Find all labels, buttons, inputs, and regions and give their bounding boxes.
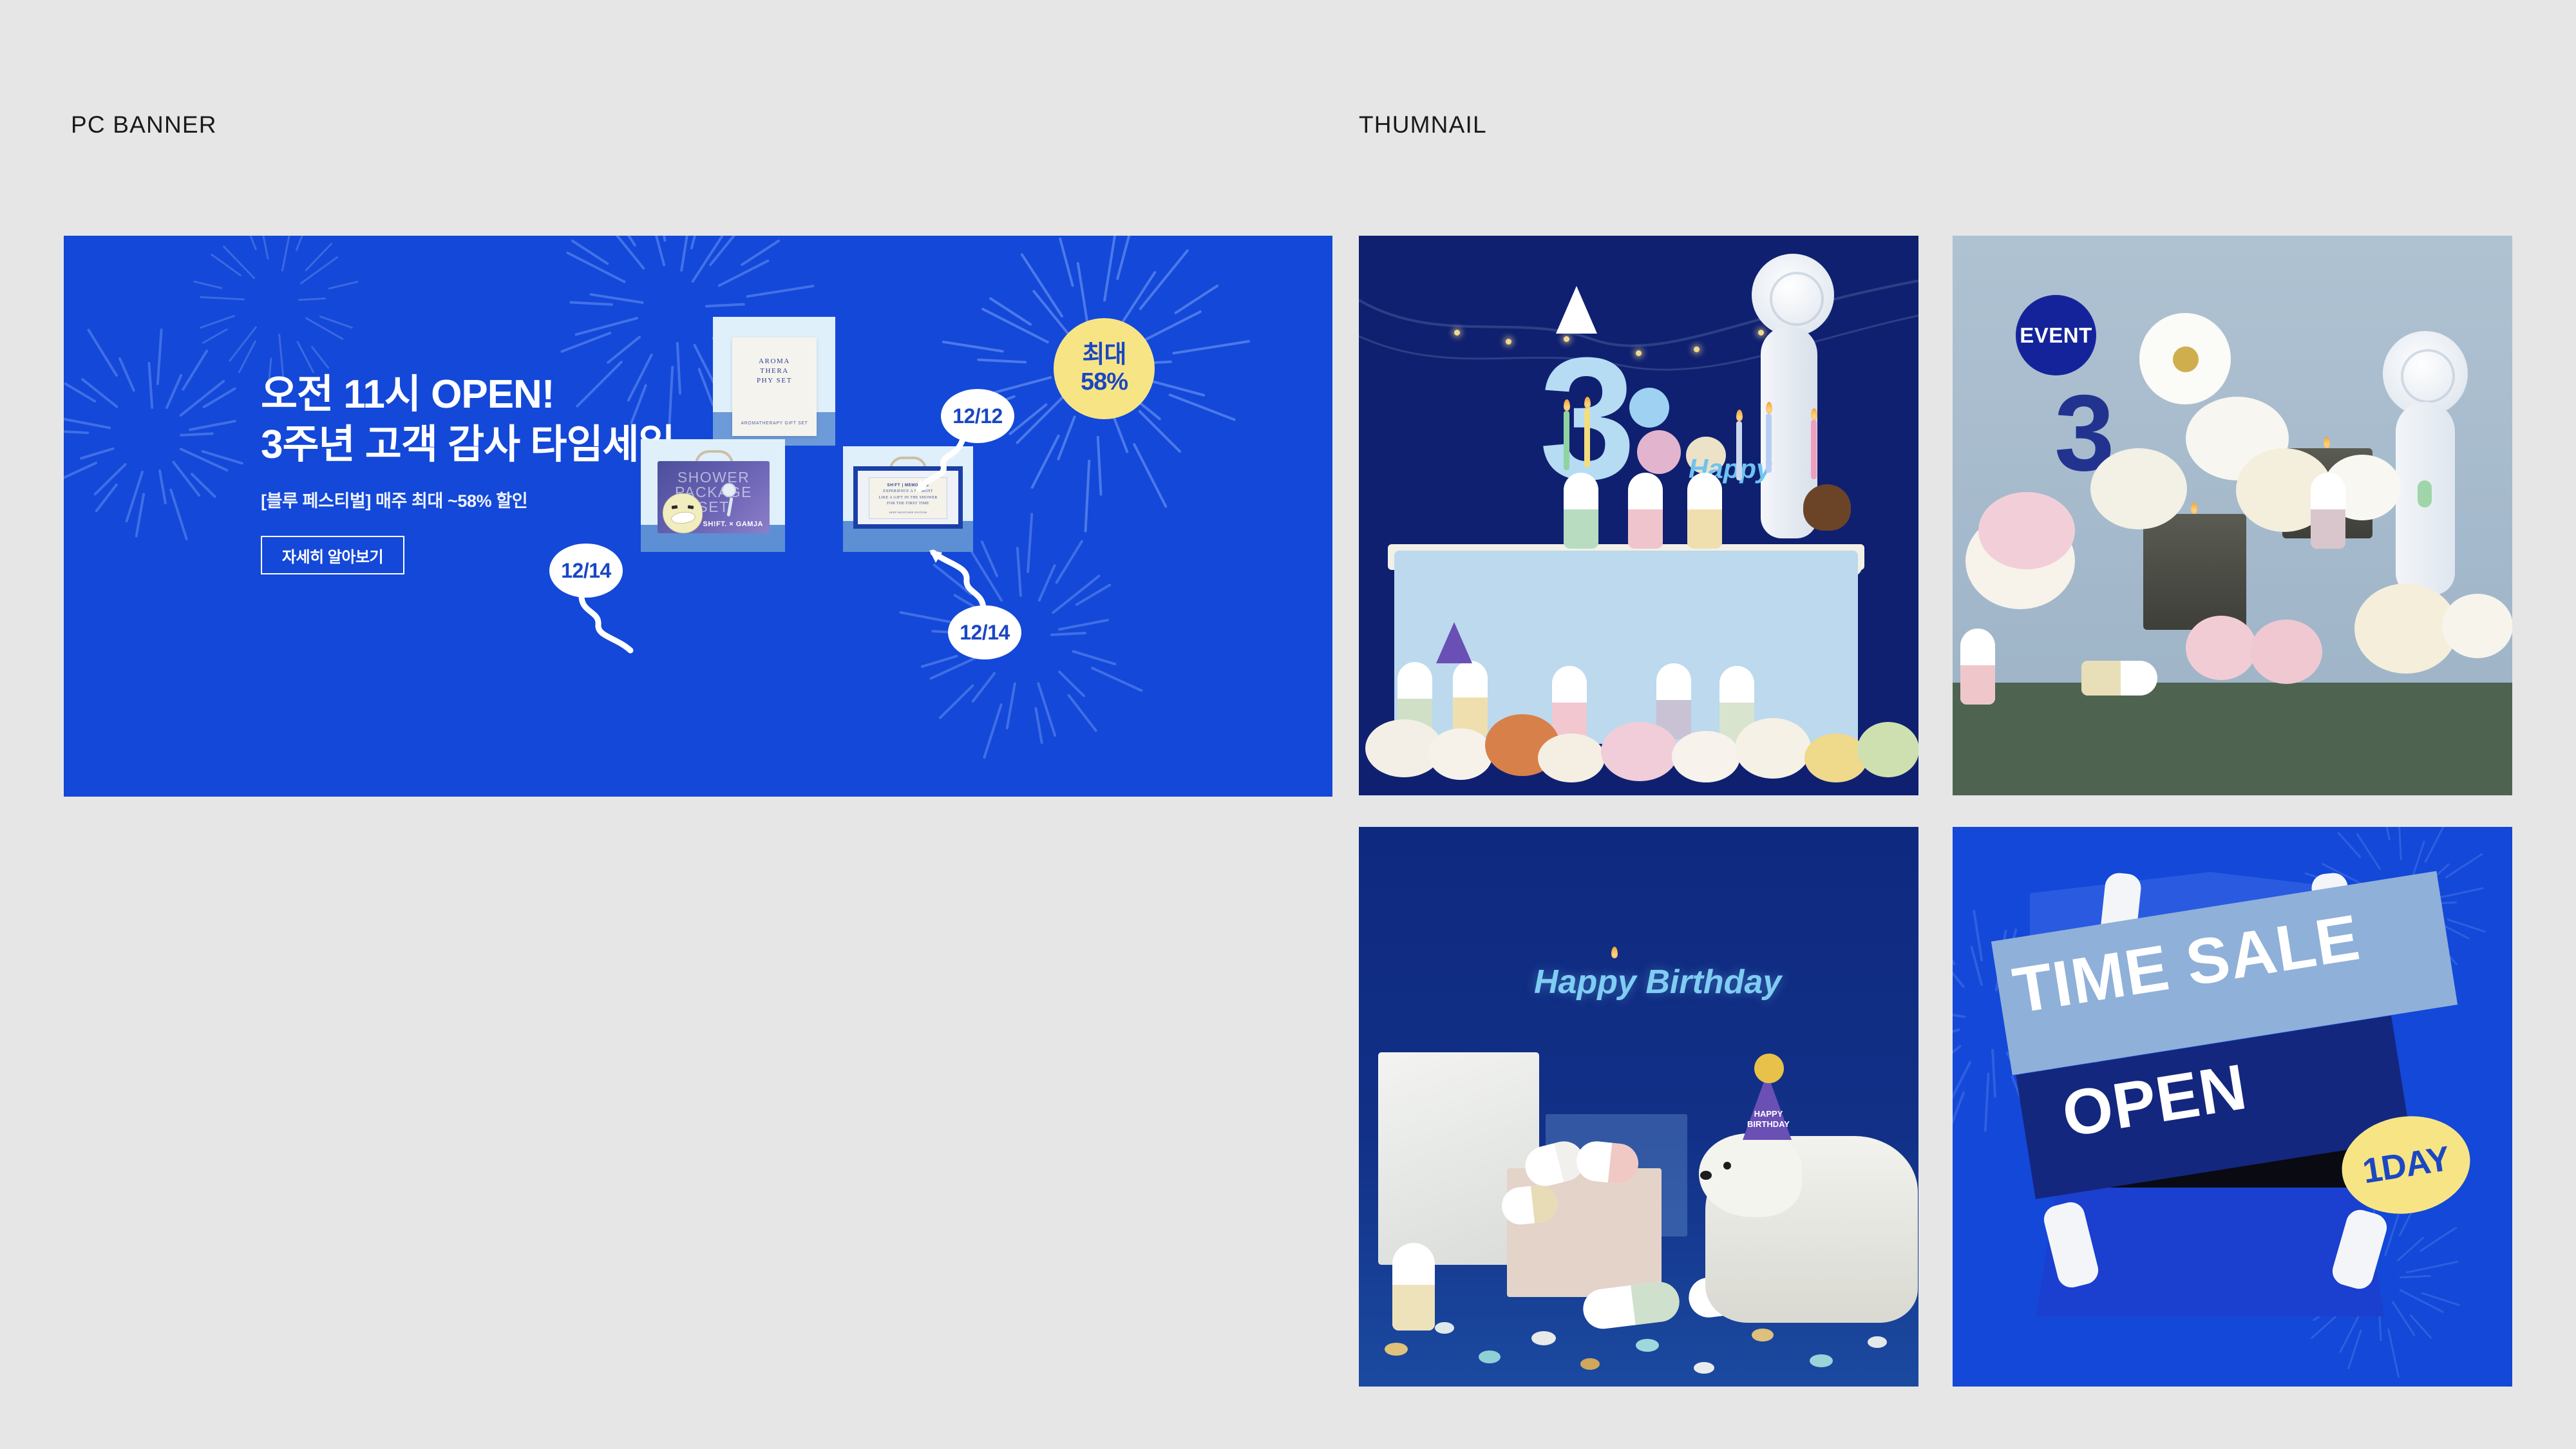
banner-headline-block: 오전 11시 OPEN! 3주년 고객 감사 타임세일 (261, 370, 675, 470)
candle-flame (1564, 399, 1570, 411)
candle-sign-text: Happy Birthday (1534, 963, 1781, 1001)
floral-card-message: EXPERIENCE A MOMENT LIKE A GIFT IN THE S… (869, 489, 947, 507)
aroma-footnote: AROMATHERAPY GIFT SET (732, 421, 817, 428)
discount-badge-line2: 58% (1081, 369, 1128, 395)
flower-bloom-center (2173, 346, 2199, 372)
floral-card-logo: SH!FT | MEMORIES (869, 484, 947, 488)
product-bottle (1564, 473, 1598, 549)
balloon-pink (1637, 430, 1681, 474)
learn-more-button[interactable]: 자세히 알아보기 (261, 536, 404, 574)
hat-text-line1: HAPPY (1736, 1109, 1801, 1119)
showerhead-disc-icon (1752, 254, 1834, 336)
flower-bloom (2442, 594, 2512, 658)
banner-headline-line1: 오전 11시 OPEN! (261, 370, 675, 420)
product-aroma-set: AROMA THERA PHY SET AROMATHERAPY GIFT SE… (713, 317, 835, 446)
string-lights-icon (1359, 274, 1918, 390)
aroma-title-line1: AROMA (732, 357, 817, 366)
product-bottle (1960, 629, 1995, 705)
discount-badge-line1: 최대 (1083, 342, 1126, 368)
party-hat-icon (1556, 286, 1597, 334)
candle-blue (1766, 413, 1772, 473)
banner-headline-line2: 3주년 고객 감사 타임세일 (261, 420, 675, 470)
one-day-badge-label: 1DAY (2360, 1139, 2452, 1191)
thumbnail-time-sale-graphic[interactable]: TIME SALE OPEN 1DAY (1953, 827, 2512, 1387)
party-hat-pompom (1754, 1054, 1784, 1083)
page-root: PC BANNER THUMNAIL 오전 11시 OPEN! 3주년 고객 감… (0, 0, 2576, 1449)
candle-green (1564, 411, 1569, 470)
aroma-title-line2: THERA (732, 366, 817, 376)
shower-collab-label: SH!FT. × GAMJA (703, 520, 763, 528)
aroma-card: AROMA THERA PHY SET AROMATHERAPY GIFT SE… (732, 337, 817, 436)
floral-message-line2: LIKE A GIFT IN THE SHOWER (869, 495, 947, 502)
product-floral-gift: SH!FT | MEMORIES EXPERIENCE A MOMENT LIK… (843, 446, 973, 552)
product-bottle (2311, 473, 2345, 549)
flower-bloom-rose (2250, 620, 2322, 684)
polar-bear-head (1699, 1133, 1802, 1217)
floral-message-line1: EXPERIENCE A MOMENT (869, 489, 947, 495)
thumbnail-flower-arrangement[interactable]: EVENT 3 (1953, 236, 2512, 795)
candle-flame (1584, 397, 1591, 408)
gamja-eye-right (688, 505, 694, 509)
teddy-bear-icon (1803, 484, 1851, 531)
event-badge: EVENT (2016, 295, 2096, 375)
candle-tall-blue (1736, 421, 1742, 480)
flower-table-surface (1953, 683, 2512, 795)
floral-card-edition: KEEP MOISTURE EDITION (869, 511, 947, 514)
candle-flame (2191, 502, 2197, 514)
party-hat-icon (1436, 622, 1472, 663)
polar-bear-nose (1700, 1171, 1712, 1180)
product-shower-package: SHOWER PACKAGE SET SH!FT. × GAMJA (641, 439, 785, 552)
flower-decorations (1359, 705, 1918, 795)
happy-birthday-candle-sign: Happy Birthday (1534, 967, 1781, 998)
flower-bloom-rose (2186, 616, 2257, 680)
floral-message-line3: FOR THE FIRST TIME (869, 501, 947, 507)
scented-candle-jar (2143, 514, 2246, 630)
candle-pink (1811, 420, 1817, 479)
flower-bloom (1978, 492, 2075, 569)
confetti-scatter (1359, 1303, 1918, 1387)
gamja-eye-left (672, 505, 678, 509)
balloon-blue (1629, 388, 1669, 428)
party-hat-label: HAPPY BIRTHDAY (1736, 1109, 1801, 1129)
flower-bloom (2090, 448, 2187, 529)
aroma-title-line3: PHY SET (732, 376, 817, 386)
thumbnail-birthday-cake[interactable]: 3 Happy (1359, 236, 1918, 795)
product-bottle (1687, 473, 1722, 549)
thumbnail-section-label: THUMNAIL (1359, 111, 1487, 138)
candle-flame (2324, 437, 2330, 448)
product-bottle (2081, 661, 2157, 696)
banner-subcopy: [블루 페스티벌] 매주 최대 ~58% 할인 (261, 487, 527, 512)
discount-badge: 최대 58% (1054, 318, 1155, 419)
date-tag-1214-left-pointer (566, 591, 643, 656)
thumbnail-polar-bear-scene[interactable]: Happy Birthday HAPPY BIRTHDAY (1359, 827, 1918, 1387)
pc-banner[interactable]: 오전 11시 OPEN! 3주년 고객 감사 타임세일 [블루 페스티벌] 매주… (64, 236, 1332, 797)
gamja-mouth (670, 511, 696, 525)
shower-title-line1: SHOWER (658, 470, 770, 485)
candle-yellow (1584, 408, 1590, 468)
hat-text-line2: BIRTHDAY (1736, 1119, 1801, 1130)
candle-flame (1611, 947, 1618, 958)
date-tag-1214-left[interactable]: 12/14 (549, 544, 623, 598)
candle-flame (1766, 402, 1772, 413)
showerhead-icon (722, 483, 736, 497)
shower-wand-button (2418, 480, 2432, 507)
polar-bear-eye (1723, 1162, 1731, 1170)
candle-flame (1736, 410, 1743, 421)
gamja-character-icon (663, 493, 703, 533)
shower-box: SHOWER PACKAGE SET SH!FT. × GAMJA (658, 461, 770, 533)
candle-flame (1811, 408, 1817, 420)
pc-banner-section-label: PC BANNER (71, 111, 217, 138)
floral-giftbox: SH!FT | MEMORIES EXPERIENCE A MOMENT LIK… (853, 466, 963, 529)
date-tag-1214-right[interactable]: 12/14 (948, 605, 1021, 659)
date-tag-1212[interactable]: 12/12 (941, 389, 1014, 443)
floral-card: SH!FT | MEMORIES EXPERIENCE A MOMENT LIK… (869, 477, 947, 519)
product-bottle (1628, 473, 1663, 549)
floral-pattern: SH!FT | MEMORIES EXPERIENCE A MOMENT LIK… (858, 471, 958, 524)
